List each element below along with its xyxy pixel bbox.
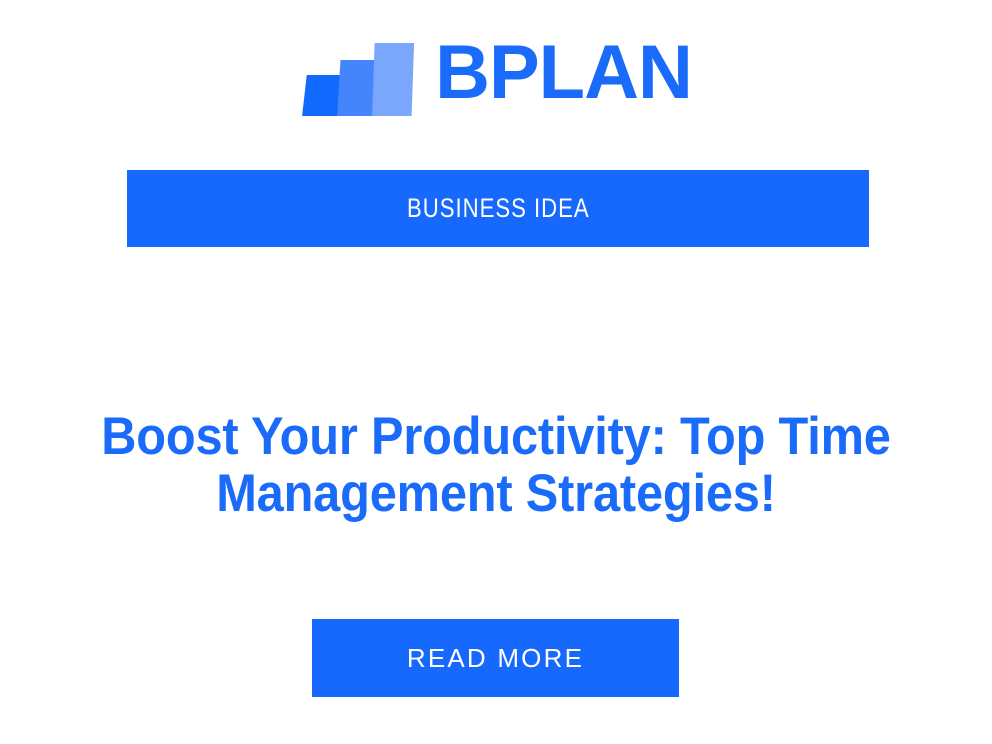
category-label: BUSINESS IDEA <box>407 195 590 222</box>
logo-bar-large <box>372 43 414 116</box>
bar-chart-logo-icon <box>300 30 413 116</box>
brand-logo: BPLAN <box>0 28 992 118</box>
business-idea-card: BPLAN BUSINESS IDEA Boost Your Productiv… <box>0 0 992 744</box>
read-more-label: READ MORE <box>407 645 584 671</box>
category-banner: BUSINESS IDEA <box>127 170 869 247</box>
page-title: Boost Your Productivity: Top Time Manage… <box>95 408 897 522</box>
read-more-button[interactable]: READ MORE <box>312 619 679 697</box>
brand-name: BPLAN <box>435 35 692 111</box>
